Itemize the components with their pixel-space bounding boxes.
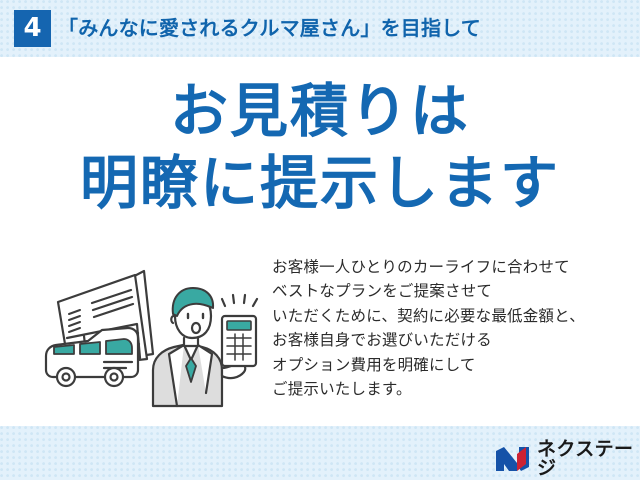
body-copy-line: オプション費用を明確にして <box>272 353 640 377</box>
body-copy-line: ご提示いたします。 <box>272 377 640 401</box>
body-copy-line: いただくために、契約に必要な最低金額と、 <box>272 304 640 328</box>
illustration <box>36 258 268 418</box>
brand-name: ネクステージ <box>537 440 640 478</box>
body-copy-line: ベストなプランをご提案させて <box>272 279 640 303</box>
headline-line-1: お見積りは <box>0 82 640 140</box>
body-copy-line: お客様一人ひとりのカーライフに合わせて <box>272 255 640 279</box>
section-number-badge: 4 <box>14 10 51 47</box>
nextage-n-logo-icon <box>495 446 531 472</box>
body-copy: お客様一人ひとりのカーライフに合わせて ベストなプランをご提案させて いただくた… <box>272 255 640 402</box>
header-title: 「みんなに愛されるクルマ屋さん」を目指して <box>58 12 481 45</box>
headline-line-2: 明瞭に提示します <box>0 154 640 212</box>
sparkle-icon <box>222 295 257 306</box>
promo-slide: 4 「みんなに愛されるクルマ屋さん」を目指して お見積りは 明瞭に提示します お… <box>0 0 640 480</box>
calculator-illustration <box>222 316 256 366</box>
van-illustration <box>46 328 138 386</box>
brand-logo: ネクステージ <box>495 444 640 474</box>
page-headline: お見積りは 明瞭に提示します <box>0 82 640 212</box>
body-copy-line: お客様自身でお選びいただける <box>272 328 640 352</box>
